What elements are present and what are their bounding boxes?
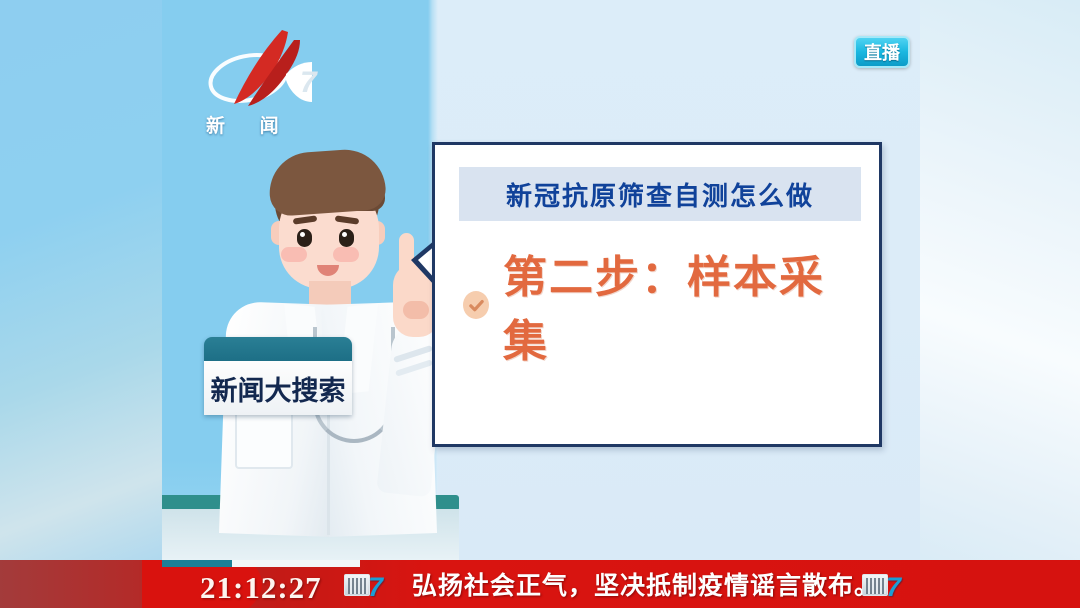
doctor-eye-right bbox=[339, 229, 354, 247]
news-ticker-bar: 21:12:27 7 弘扬社会正气，坚决抵制疫情谣言散布。 7 bbox=[0, 560, 1080, 608]
program-banner-name: 新闻大搜索 bbox=[204, 361, 352, 415]
pillarbox-left bbox=[0, 0, 162, 608]
info-card-body: 第二步：样本采集 bbox=[463, 241, 863, 369]
info-card-header: 新冠抗原筛查自测怎么做 bbox=[459, 167, 861, 221]
program-banner-strip bbox=[204, 337, 352, 361]
doctor-coat-pocket bbox=[235, 415, 293, 469]
doctor-hair-top bbox=[267, 147, 387, 217]
clock-display: 21:12:27 bbox=[200, 567, 360, 608]
check-circle-icon bbox=[463, 291, 489, 319]
info-card-title: 新冠抗原筛查自测怎么做 bbox=[506, 176, 814, 213]
station-mark-icon-left bbox=[344, 574, 370, 596]
station-mark-icon-right bbox=[862, 574, 888, 596]
ticker-white-tab bbox=[232, 560, 360, 567]
station-number-left: 7 bbox=[368, 572, 383, 603]
broadcast-screen: 7 新 闻 直播 bbox=[0, 0, 1080, 608]
ticker-message: 弘扬社会正气，坚决抵制疫情谣言散布。 bbox=[412, 560, 880, 608]
live-badge-label: 直播 bbox=[864, 39, 900, 65]
ticker-station-logo-right: 7 bbox=[862, 573, 918, 599]
ticker-teal-tab bbox=[162, 560, 232, 567]
pillarbox-right bbox=[920, 0, 1080, 608]
step-heading: 第二步：样本采集 bbox=[503, 241, 863, 369]
check-glyph bbox=[468, 297, 485, 314]
program-title-banner: 新闻大搜索 bbox=[204, 337, 352, 415]
doctor-blush-right bbox=[333, 247, 359, 262]
doctor-eye-left bbox=[297, 229, 312, 247]
ticker-station-logo-left: 7 bbox=[344, 573, 400, 599]
video-frame: 7 新 闻 直播 bbox=[162, 0, 920, 560]
channel-logo-mark: 7 bbox=[190, 22, 340, 122]
doctor-knuckle bbox=[403, 301, 429, 319]
svg-text:7: 7 bbox=[300, 66, 318, 99]
info-card: 新冠抗原筛查自测怎么做 第二步：样本采集 bbox=[432, 142, 882, 447]
channel-logo: 7 新 闻 bbox=[190, 22, 340, 142]
live-badge: 直播 bbox=[854, 36, 910, 68]
doctor-blush-left bbox=[281, 247, 307, 262]
channel-logo-text: 新 闻 bbox=[206, 111, 293, 138]
program-title-text: 新闻大搜索 bbox=[211, 369, 346, 408]
station-number-right: 7 bbox=[886, 572, 901, 603]
